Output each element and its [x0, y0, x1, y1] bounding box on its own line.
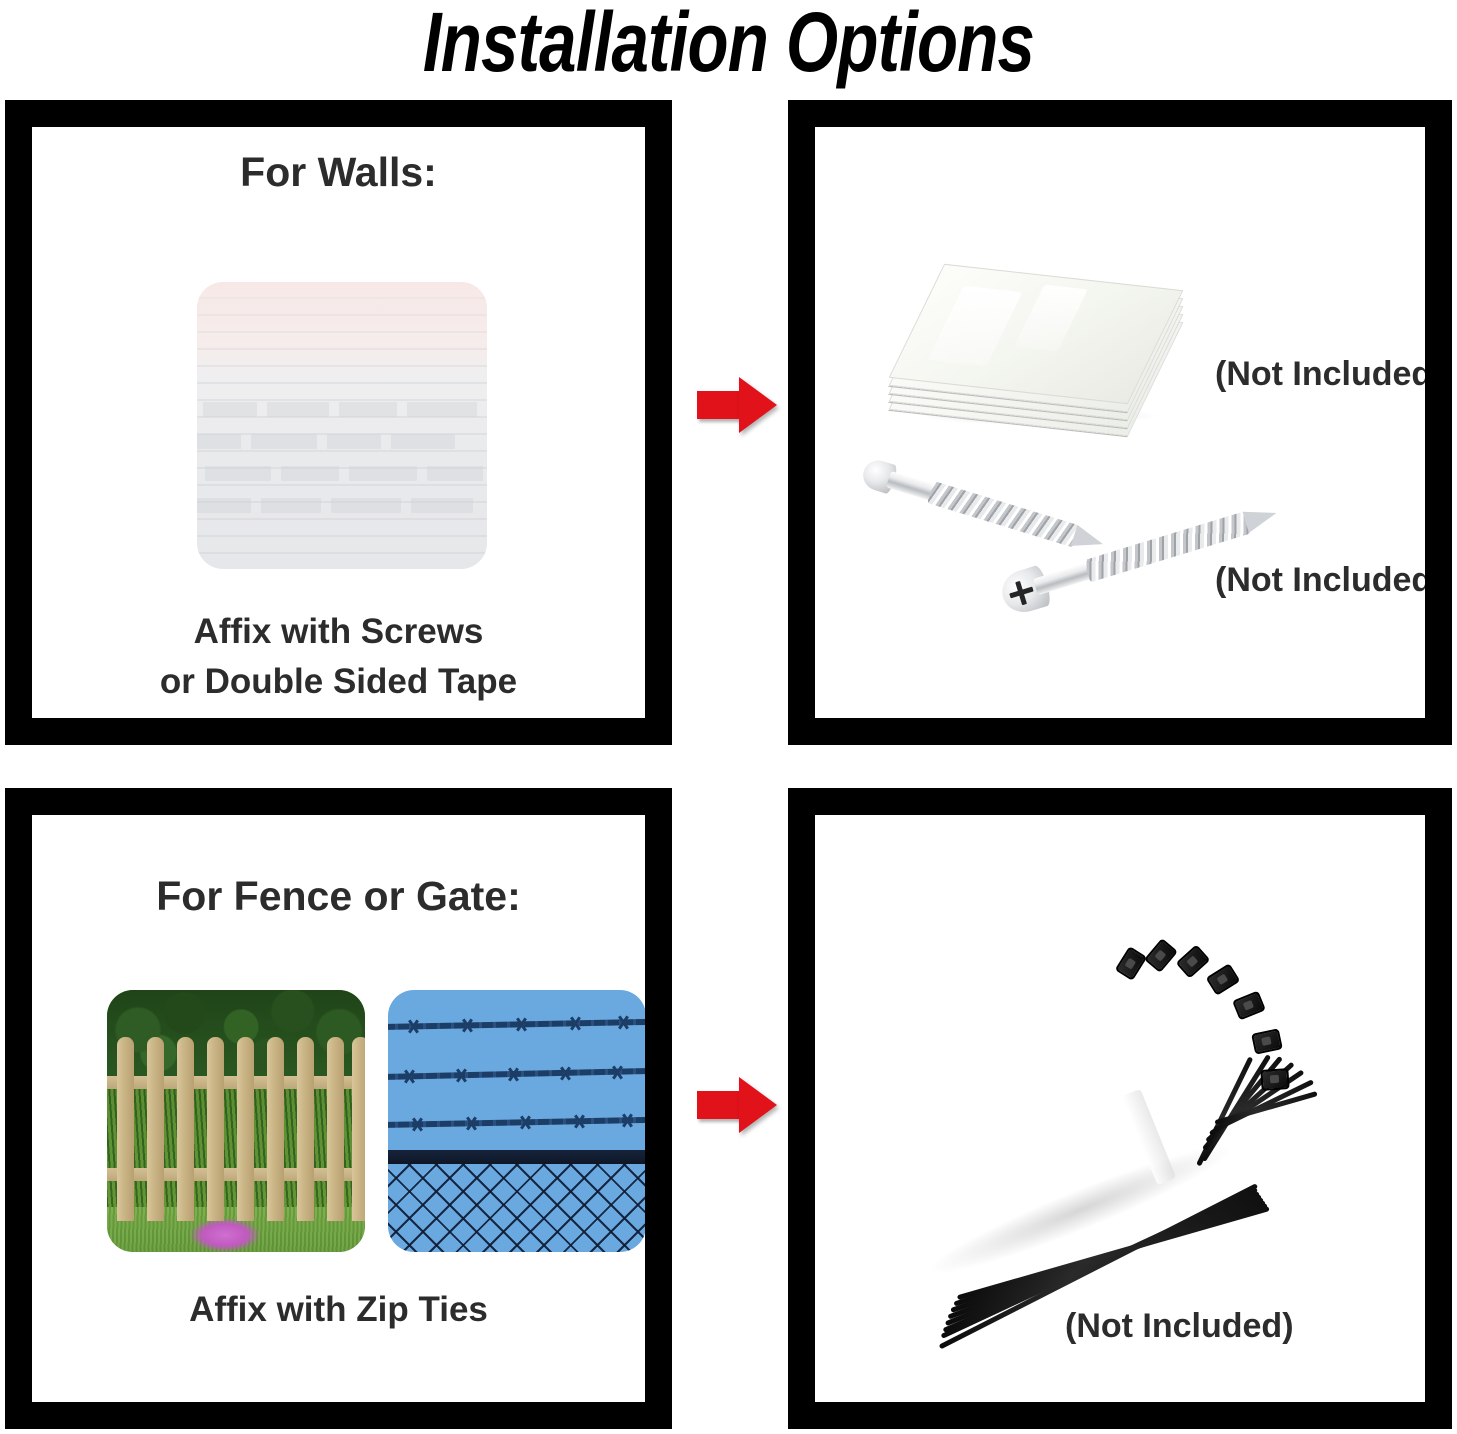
arrow-head — [739, 377, 777, 433]
panel-fence-hardware-inner: (Not Included) — [815, 815, 1425, 1402]
arrow-shaft — [697, 391, 745, 419]
panel-fence-hardware: (Not Included) — [788, 788, 1452, 1429]
barbed-wire-chain-link-fence-image — [388, 990, 645, 1252]
panel-for-fence-or-gate-inner: For Fence or Gate: — [32, 815, 645, 1402]
for-fence-caption: Affix with Zip Ties — [32, 1285, 645, 1335]
for-walls-caption-line2: or Double Sided Tape — [32, 657, 645, 707]
tape-not-included-label: (Not Included) — [1215, 355, 1425, 394]
screws-not-included-label: (Not Included) — [1215, 561, 1425, 600]
panel-wall-hardware-inner: (Not Included) (Not Included) — [815, 127, 1425, 718]
red-right-arrow-bottom — [697, 1077, 777, 1133]
panel-for-walls: For Walls: Affix with Screws or Double S… — [5, 100, 672, 745]
arrow-head — [739, 1077, 777, 1133]
panel-for-walls-inner: For Walls: Affix with Screws or Double S… — [32, 127, 645, 718]
panel-for-fence-or-gate: For Fence or Gate: — [5, 788, 672, 1429]
zipties-not-included-label: (Not Included) — [1065, 1307, 1294, 1346]
double-sided-tape-stack-image — [910, 257, 1210, 432]
for-walls-caption-line1: Affix with Screws — [32, 607, 645, 657]
black-zip-tie-bundle-image — [895, 935, 1325, 1315]
red-right-arrow-top — [697, 377, 777, 433]
wooden-picket-fence-image — [107, 990, 365, 1252]
page-title: Installation Options — [146, 0, 1312, 90]
for-fence-caption-line1: Affix with Zip Ties — [32, 1285, 645, 1335]
for-fence-heading: For Fence or Gate: — [32, 873, 645, 920]
for-walls-caption: Affix with Screws or Double Sided Tape — [32, 607, 645, 706]
white-brick-wall-image — [197, 282, 487, 569]
panel-wall-hardware: (Not Included) (Not Included) — [788, 100, 1452, 745]
arrow-shaft — [697, 1091, 745, 1119]
for-walls-heading: For Walls: — [32, 149, 645, 196]
